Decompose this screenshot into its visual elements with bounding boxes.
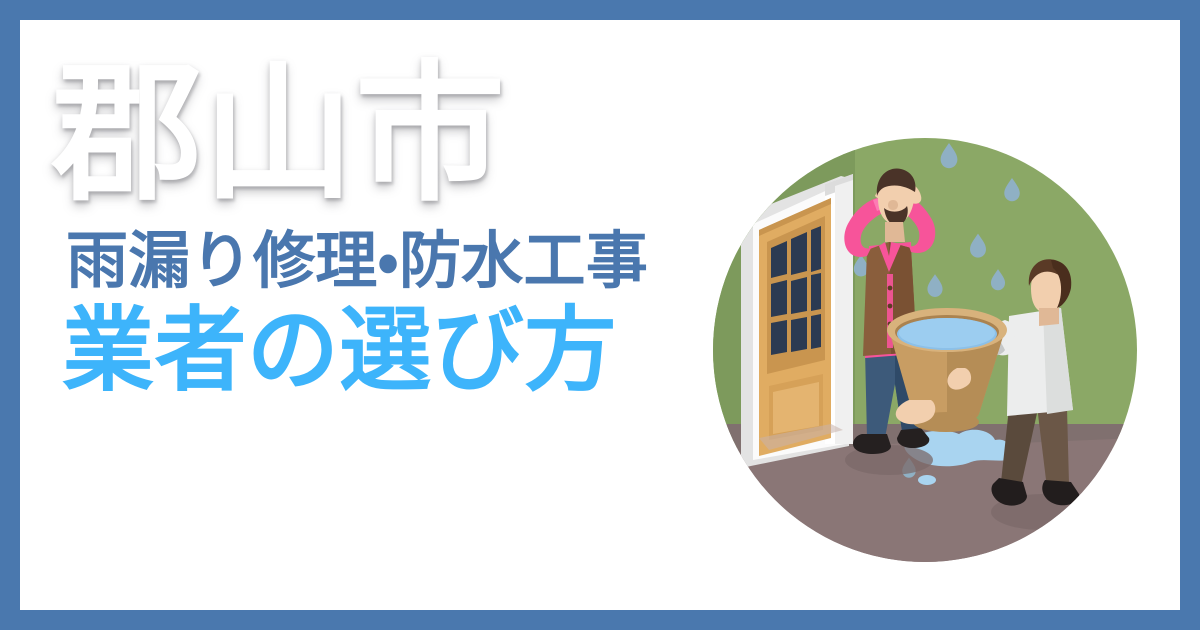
frame-bottom-edge [0,610,1200,630]
door-pane [791,232,807,275]
bucket-water-highlight [899,318,995,348]
main-headline: 業者の選び方 [62,301,712,400]
door-pane [771,280,787,317]
wooden-door [741,174,853,468]
frame-right-edge [1180,0,1200,630]
service-subtitle: 雨漏り修理・防水工事 [66,226,712,295]
frame-top-edge [0,0,1200,20]
man1-vest-button [888,304,893,309]
door-pane [811,314,821,349]
man1-neck [885,222,905,242]
door-pane [811,226,821,272]
door-pane [791,277,807,314]
city-title: 郡山市 [52,60,712,210]
door-pane [771,320,787,355]
man2-neck [1039,308,1059,326]
roof-leak-illustration [713,138,1137,562]
door-pane [791,317,807,352]
man1-shoe-left [853,434,891,454]
door-casing-reveal [835,180,853,444]
man1-face-shade [888,200,898,210]
text-block: 郡山市 雨漏り修理・防水工事 業者の選び方 [52,60,712,401]
man1-vest-button [888,286,893,291]
illustration-clip-group [713,138,1137,562]
banner-root: 郡山市 雨漏り修理・防水工事 業者の選び方 [0,0,1200,630]
frame-left-edge [0,0,20,630]
door-pane [811,273,821,311]
